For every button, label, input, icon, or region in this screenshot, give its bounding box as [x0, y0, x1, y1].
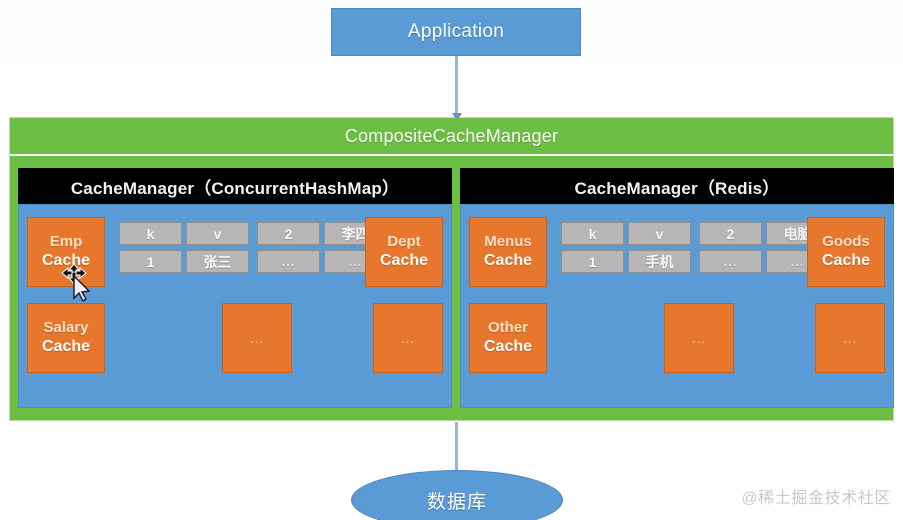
dept-cache-line2: Cache	[380, 251, 428, 271]
arrow-composite-to-database	[455, 422, 458, 472]
kv-cell-key-ellipsis: ...	[257, 250, 320, 273]
database-label: 数据库	[427, 487, 487, 514]
menus-cache-line2: Cache	[484, 251, 532, 271]
placeholder-cache-box[interactable]: ...	[664, 303, 734, 373]
cache-row-salary: Salary Cache ... ...	[27, 303, 443, 373]
menus-cache-label[interactable]: Menus Cache	[469, 217, 547, 287]
cache-manager-header: CacheManager（ConcurrentHashMap）	[18, 168, 452, 204]
placeholder-cache-box[interactable]: ...	[373, 303, 443, 373]
cache-manager-redis[interactable]: CacheManager（Redis） Menus Cache k v	[460, 168, 894, 408]
composite-cache-manager-panel[interactable]: CompositeCacheManager CacheManager（Concu…	[10, 118, 893, 420]
application-label: Application	[408, 21, 504, 43]
menus-kv-table-1: k v 1 手机	[561, 222, 691, 278]
salary-cache-label[interactable]: Salary Cache	[27, 303, 105, 373]
cache-row-menus: Menus Cache k v 1 手机	[469, 217, 885, 287]
table-row: 1 手机	[561, 250, 691, 273]
menus-cache-line1: Menus	[484, 233, 532, 251]
cache-manager-body: Menus Cache k v 1 手机	[460, 204, 894, 408]
cache-manager-header-label: CacheManager（ConcurrentHashMap）	[71, 174, 399, 199]
database-node[interactable]: 数据库	[351, 470, 563, 520]
emp-kv-table-1: k v 1 张三	[119, 222, 249, 278]
application-box[interactable]: Application	[331, 8, 581, 56]
kv-cell-key: 1	[561, 250, 624, 273]
cache-manager-body: Emp Cache k v 1 张三	[18, 204, 452, 408]
kv-cell-key: 1	[119, 250, 182, 273]
table-row: 1 张三	[119, 250, 249, 273]
cache-manager-header-label: CacheManager（Redis）	[574, 174, 779, 199]
kv-cell-key: 2	[699, 222, 762, 245]
salary-cache-line2: Cache	[42, 337, 90, 357]
dept-cache-line1: Dept	[387, 233, 420, 251]
goods-cache-line1: Goods	[822, 233, 870, 251]
kv-cell-value-header: v	[628, 222, 691, 245]
other-cache-line2: Cache	[484, 337, 532, 357]
kv-cell-key: 2	[257, 222, 320, 245]
cache-manager-concurrenthashmap[interactable]: CacheManager（ConcurrentHashMap） Emp Cach…	[18, 168, 452, 408]
kv-cell-key-header: k	[119, 222, 182, 245]
kv-cell-key-header: k	[561, 222, 624, 245]
goods-cache-label[interactable]: Goods Cache	[807, 217, 885, 287]
cache-manager-header: CacheManager（Redis）	[460, 168, 894, 204]
placeholder-cache-box[interactable]: ...	[222, 303, 292, 373]
table-row: k v	[561, 222, 691, 245]
composite-title-label: CompositeCacheManager	[345, 126, 558, 147]
arrow-application-to-composite	[455, 56, 458, 114]
dept-cache-label[interactable]: Dept Cache	[365, 217, 443, 287]
emp-cache-line1: Emp	[50, 233, 83, 251]
kv-cell-key-ellipsis: ...	[699, 250, 762, 273]
salary-cache-line1: Salary	[43, 319, 88, 337]
other-cache-label[interactable]: Other Cache	[469, 303, 547, 373]
cache-row-other: Other Cache ... ...	[469, 303, 885, 373]
kv-cell-value: 张三	[186, 250, 249, 273]
emp-cache-line2: Cache	[42, 251, 90, 271]
goods-cache-line2: Cache	[822, 251, 870, 271]
cache-row-emp: Emp Cache k v 1 张三	[27, 217, 443, 287]
table-row: k v	[119, 222, 249, 245]
composite-cache-manager-title: CompositeCacheManager	[10, 118, 893, 156]
other-cache-line1: Other	[488, 319, 528, 337]
kv-cell-value: 手机	[628, 250, 691, 273]
placeholder-cache-box[interactable]: ...	[815, 303, 885, 373]
kv-cell-value-header: v	[186, 222, 249, 245]
watermark: @稀土掘金技术社区	[741, 484, 891, 508]
diagram-canvas: Application CompositeCacheManager CacheM…	[0, 0, 903, 520]
emp-cache-label[interactable]: Emp Cache	[27, 217, 105, 287]
